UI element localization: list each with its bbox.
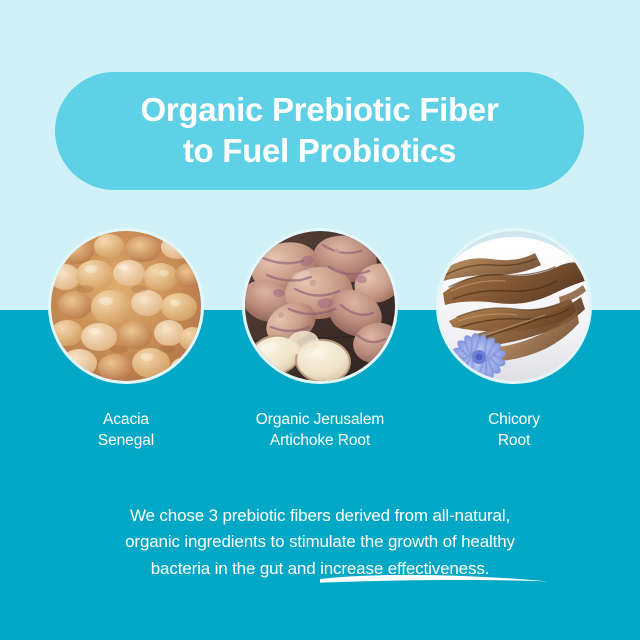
- prebiotic-fiber-infographic: Organic Prebiotic Fiber to Fuel Probioti…: [0, 0, 640, 640]
- headline-pill: Organic Prebiotic Fiber to Fuel Probioti…: [55, 72, 584, 190]
- ingredient-label-acacia-senegal: Acacia Senegal: [48, 410, 204, 451]
- ingredient-jerusalem-artichoke-root: Organic Jerusalem Artichoke Root: [242, 228, 398, 451]
- ingredient-circle-frame: [48, 228, 204, 384]
- body-paragraph: We chose 3 prebiotic fibers derived from…: [0, 503, 640, 582]
- ingredient-row: Acacia Senegal: [0, 228, 640, 451]
- ingredient-label-jerusalem-artichoke-root: Organic Jerusalem Artichoke Root: [242, 410, 398, 451]
- ingredient-circle-frame: [242, 228, 398, 384]
- headline-text: Organic Prebiotic Fiber to Fuel Probioti…: [122, 90, 516, 172]
- ingredient-label-chicory-root: Chicory Root: [436, 410, 592, 451]
- ingredient-acacia-senegal: Acacia Senegal: [48, 228, 204, 451]
- jerusalem-artichoke-root-photo: [245, 231, 395, 381]
- ingredient-chicory-root: Chicory Root: [436, 228, 592, 451]
- acacia-senegal-gum-crystals-photo: [51, 231, 201, 381]
- chicory-root-photo: [439, 231, 589, 381]
- ingredient-circle-frame: [436, 228, 592, 384]
